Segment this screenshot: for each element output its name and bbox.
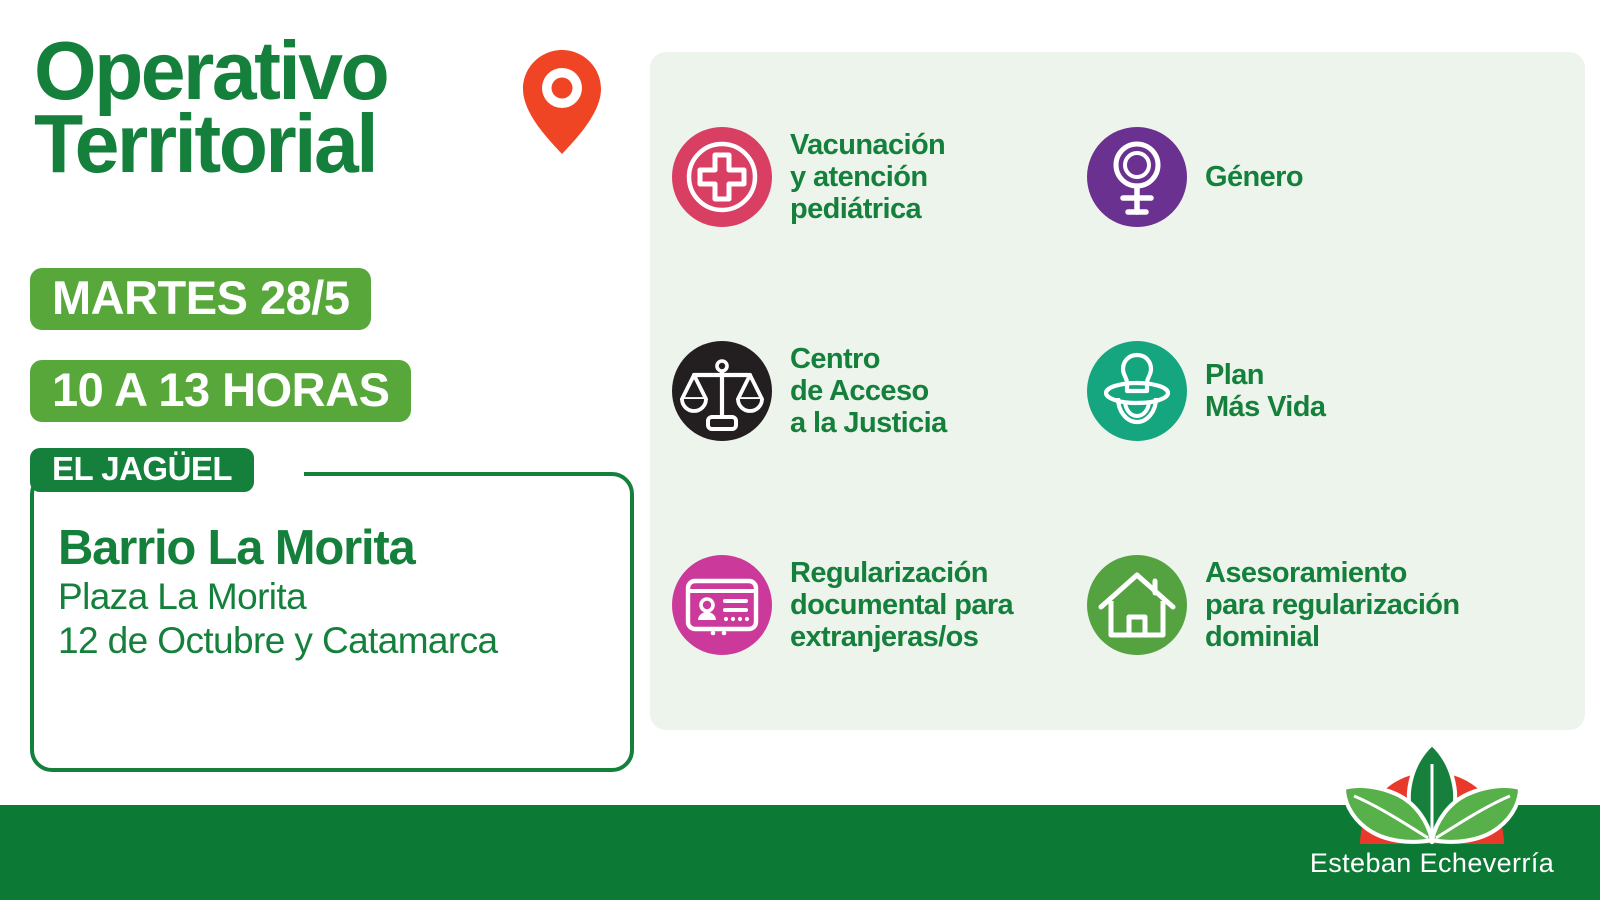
map-pin-icon [520, 48, 604, 156]
service-item-plan-mas-vida: Plan Más Vida [1087, 284, 1600, 498]
service-label: Regularización documental para extranjer… [790, 557, 1013, 654]
justice-scales-icon [672, 341, 772, 441]
house-icon [1087, 555, 1187, 655]
locality-badge: EL JAGÜEL [30, 448, 254, 492]
service-item-regularizacion-dominial: Asesoramiento para regularización domini… [1087, 498, 1600, 712]
service-icon-badge [1087, 341, 1187, 441]
service-icon-badge [672, 555, 772, 655]
service-icon-badge [672, 127, 772, 227]
services-panel: Vacunación y atención pediátrica Género [650, 52, 1585, 730]
address-cross-streets: 12 de Octubre y Catamarca [58, 619, 618, 663]
service-label: Vacunación y atención pediátrica [790, 129, 945, 226]
id-card-icon [672, 555, 772, 655]
service-label: Asesoramiento para regularización domini… [1205, 557, 1460, 654]
pacifier-icon [1087, 341, 1187, 441]
address-block: Barrio La Morita Plaza La Morita 12 de O… [58, 522, 618, 662]
logo-name: Esteban Echeverría [1282, 848, 1582, 879]
service-label: Género [1205, 161, 1303, 193]
municipality-logo: Esteban Echeverría [1282, 736, 1582, 896]
date-badge: MARTES 28/5 [30, 268, 371, 330]
service-item-genero: Género [1087, 70, 1600, 284]
event-info-column: Operativo Territorial MARTES 28/5 10 A 1… [0, 0, 650, 805]
services-grid: Vacunación y atención pediátrica Género [650, 52, 1585, 730]
venus-gender-icon [1087, 127, 1187, 227]
medical-cross-icon [672, 127, 772, 227]
address-neighborhood: Barrio La Morita [58, 522, 618, 575]
service-item-vacunacion: Vacunación y atención pediátrica [672, 70, 1087, 284]
page-title: Operativo Territorial [34, 34, 387, 180]
service-item-regularizacion-documental: Regularización documental para extranjer… [672, 498, 1087, 712]
esteban-echeverria-leaves-logo [1282, 736, 1582, 856]
service-label: Centro de Acceso a la Justicia [790, 343, 947, 440]
service-icon-badge [672, 341, 772, 441]
service-icon-badge [1087, 127, 1187, 227]
time-badge: 10 A 13 HORAS [30, 360, 411, 422]
address-place: Plaza La Morita [58, 575, 618, 619]
service-label: Plan Más Vida [1205, 359, 1325, 423]
service-item-justicia: Centro de Acceso a la Justicia [672, 284, 1087, 498]
service-icon-badge [1087, 555, 1187, 655]
